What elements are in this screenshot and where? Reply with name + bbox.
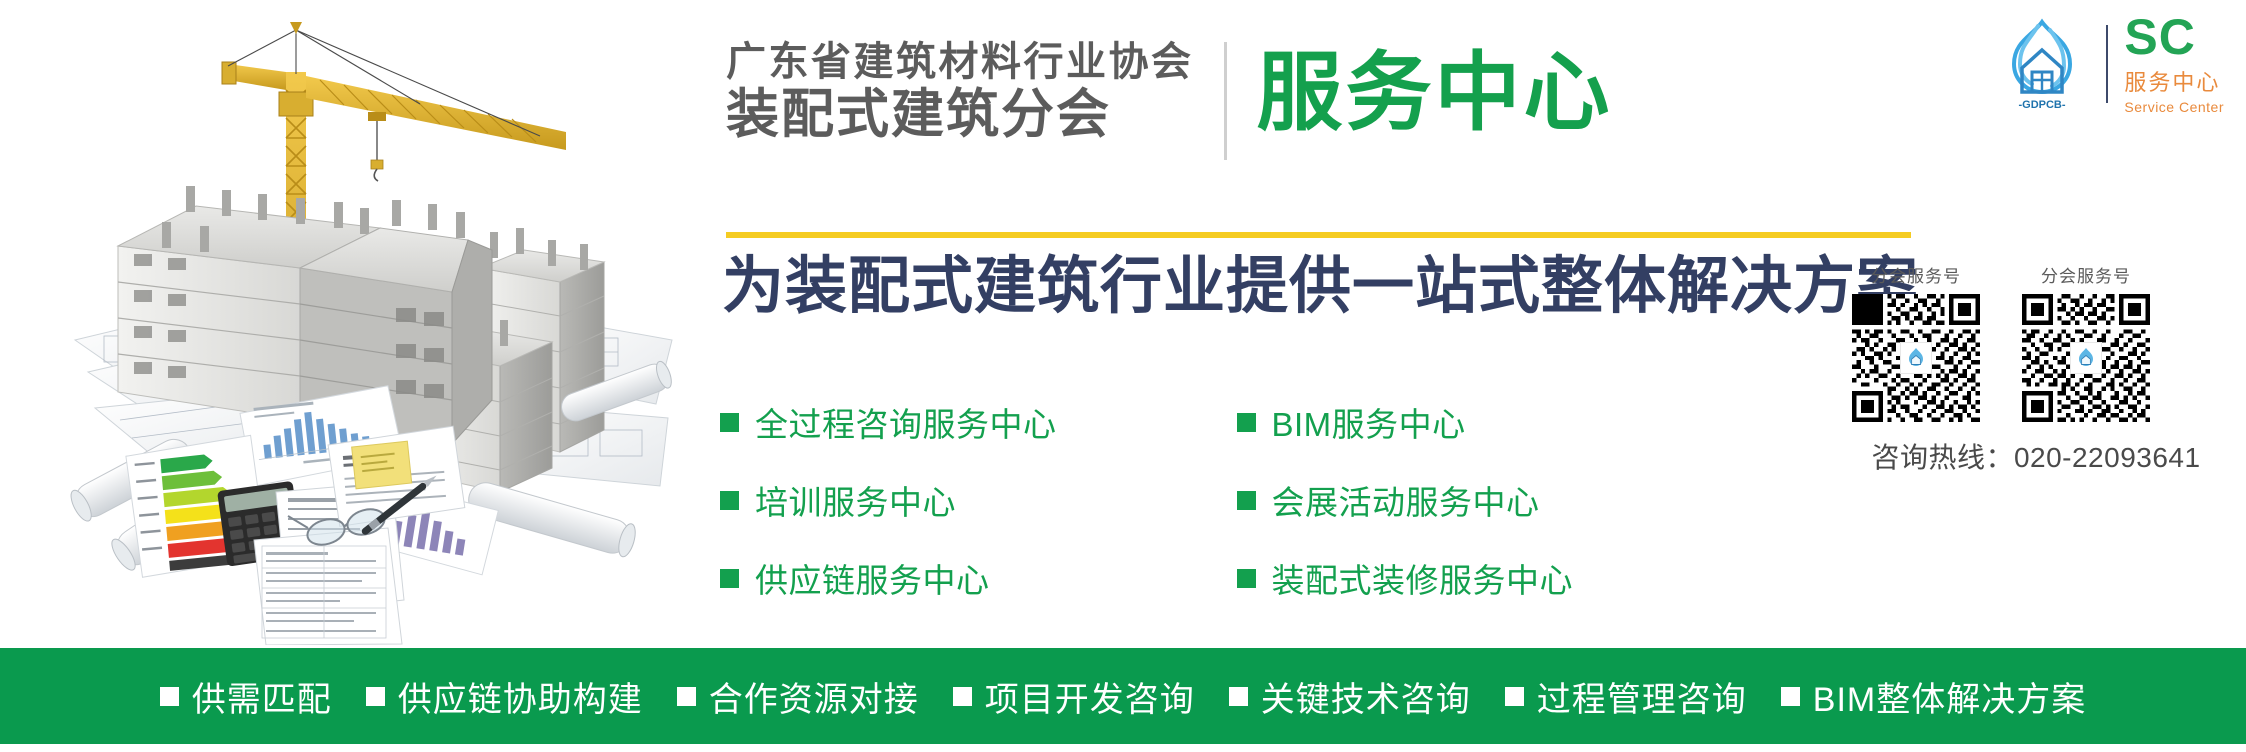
sc-chinese-label: 服务中心 — [2124, 65, 2220, 97]
service-item-exhibition-events[interactable]: 会展活动服务中心 — [1237, 476, 1574, 524]
bottom-tag-project-development-consulting[interactable]: 项目开发咨询 — [953, 672, 1195, 721]
service-item-label: 装配式装修服务中心 — [1272, 554, 1574, 602]
qr-and-hotline-block: 分会服务号 — [1846, 262, 2226, 476]
sc-logo-lockup: SC 服务中心 Service Center — [2124, 14, 2224, 115]
bottom-tag-label: 项目开发咨询 — [985, 672, 1195, 721]
bullet-square-icon — [720, 413, 739, 432]
bullet-square-icon — [1237, 569, 1256, 588]
logo-vertical-divider — [2106, 25, 2108, 103]
bottom-tag-supply-chain-building[interactable]: 供应链协助构建 — [366, 672, 643, 721]
page-headline: 为装配式建筑行业提供一站式整体解决方案 — [722, 253, 1919, 321]
hero-construction-image — [0, 0, 690, 645]
bottom-tag-label: BIM整体解决方案 — [1813, 672, 2086, 721]
bottom-tag-label: 合作资源对接 — [709, 672, 919, 721]
qr-unit-1: 分会服务号 — [1852, 262, 1980, 422]
service-column-right: BIM服务中心 会展活动服务中心 装配式装修服务中心 — [1237, 398, 1574, 602]
service-item-bim[interactable]: BIM服务中心 — [1237, 398, 1574, 446]
qr-unit-2: 分会服务号 — [2022, 262, 2150, 422]
qr-caption-2: 分会服务号 — [2041, 262, 2131, 287]
branch-name: 装配式建筑分会 — [726, 88, 1194, 141]
bullet-square-icon — [1237, 413, 1256, 432]
bullet-square-icon — [160, 687, 179, 706]
logo-lockup: -GDPCB- SC 服务中心 Service Center — [1994, 14, 2224, 115]
service-item-label: 供应链服务中心 — [755, 554, 990, 602]
bottom-tag-label: 关键技术咨询 — [1261, 672, 1471, 721]
yellow-divider-rule — [726, 232, 1911, 238]
bottom-tag-key-technology-consulting[interactable]: 关键技术咨询 — [1229, 672, 1471, 721]
qr-code-1[interactable] — [1852, 294, 1980, 422]
sc-letters: SC — [2124, 14, 2195, 62]
qr-code-2[interactable] — [2022, 294, 2150, 422]
qr-caption-1: 分会服务号 — [1871, 262, 1961, 287]
bullet-square-icon — [1237, 491, 1256, 510]
service-item-label: 会展活动服务中心 — [1272, 476, 1540, 524]
bullet-square-icon — [720, 491, 739, 510]
bottom-tag-process-management-consulting[interactable]: 过程管理咨询 — [1505, 672, 1747, 721]
bottom-tag-label: 供应链协助构建 — [398, 672, 643, 721]
bottom-white-strip — [0, 744, 2246, 752]
service-item-label: 培训服务中心 — [755, 476, 956, 524]
bullet-square-icon — [720, 569, 739, 588]
bottom-tag-bar: 供需匹配 供应链协助构建 合作资源对接 项目开发咨询 关键技术咨询 过程管理咨询 — [0, 648, 2246, 744]
service-item-label: BIM服务中心 — [1272, 398, 1466, 446]
service-center-lists: 全过程咨询服务中心 培训服务中心 供应链服务中心 BIM服务中心 — [720, 398, 1573, 602]
service-item-label: 全过程咨询服务中心 — [755, 398, 1057, 446]
bullet-square-icon — [953, 687, 972, 706]
bottom-tag-bim-total-solution[interactable]: BIM整体解决方案 — [1781, 672, 2086, 721]
content-area: 广东省建筑材料行业协会 装配式建筑分会 服务中心 为装配式建筑行业提供一站式整体… — [690, 0, 2246, 645]
gdpcb-small-icon — [1904, 346, 1928, 370]
qr-row: 分会服务号 — [1846, 262, 2226, 422]
organization-names: 广东省建筑材料行业协会 装配式建筑分会 — [726, 42, 1194, 141]
service-item-prefab-decoration[interactable]: 装配式装修服务中心 — [1237, 554, 1574, 602]
gdpcb-logo-mark: -GDPCB- — [1994, 16, 2090, 112]
bottom-tag-label: 供需匹配 — [192, 672, 332, 721]
service-item-full-process-consulting[interactable]: 全过程咨询服务中心 — [720, 398, 1057, 446]
gdpcb-mark-text: -GDPCB- — [2019, 99, 2066, 111]
gdpcb-logo-svg: -GDPCB- — [1994, 16, 2090, 112]
bullet-square-icon — [677, 687, 696, 706]
service-column-left: 全过程咨询服务中心 培训服务中心 供应链服务中心 — [720, 398, 1057, 602]
bullet-square-icon — [1781, 687, 1800, 706]
bottom-tag-supply-demand-matching[interactable]: 供需匹配 — [160, 672, 332, 721]
bullet-square-icon — [1229, 687, 1248, 706]
bullet-square-icon — [366, 687, 385, 706]
service-center-title: 服务中心 — [1257, 48, 1613, 138]
service-item-supply-chain[interactable]: 供应链服务中心 — [720, 554, 1057, 602]
bottom-tag-resource-matching[interactable]: 合作资源对接 — [677, 672, 919, 721]
hotline-text: 咨询热线：020-22093641 — [1846, 436, 2226, 476]
bottom-tag-label: 过程管理咨询 — [1537, 672, 1747, 721]
qr-center-logo-2 — [2070, 342, 2102, 374]
gdpcb-small-icon — [2074, 346, 2098, 370]
organization-title-block: 广东省建筑材料行业协会 装配式建筑分会 服务中心 — [726, 42, 1613, 160]
hero-illustration-svg — [0, 0, 690, 645]
banner-root: 广东省建筑材料行业协会 装配式建筑分会 服务中心 为装配式建筑行业提供一站式整体… — [0, 0, 2246, 752]
bottom-tag-row: 供需匹配 供应链协助构建 合作资源对接 项目开发咨询 关键技术咨询 过程管理咨询 — [160, 672, 2086, 721]
qr-center-logo-1 — [1900, 342, 1932, 374]
sticky-note — [352, 441, 412, 489]
title-vertical-divider — [1224, 42, 1227, 160]
bullet-square-icon — [1505, 687, 1524, 706]
sc-english-label: Service Center — [2124, 99, 2224, 115]
service-item-training[interactable]: 培训服务中心 — [720, 476, 1057, 524]
association-name: 广东省建筑材料行业协会 — [726, 42, 1194, 82]
